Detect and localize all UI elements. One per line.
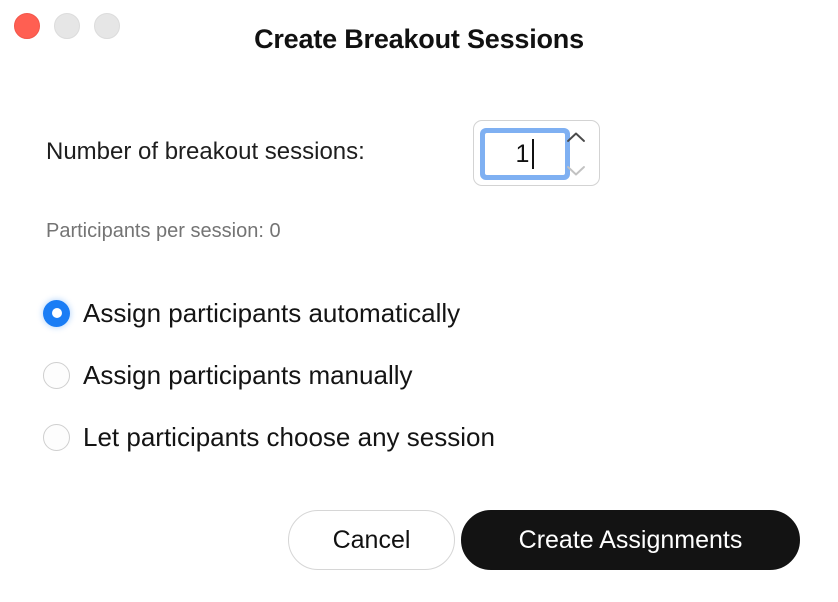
sessions-count-input-focus-ring: 1	[480, 128, 570, 180]
radio-selected-icon[interactable]	[43, 300, 70, 327]
page-title: Create Breakout Sessions	[0, 24, 838, 55]
create-assignments-button[interactable]: Create Assignments	[461, 510, 800, 570]
sessions-count-stepper[interactable]: 1	[473, 120, 600, 186]
radio-option-label: Assign participants automatically	[83, 298, 460, 329]
title-bar: Create Breakout Sessions	[0, 0, 838, 86]
sessions-count-value: 1	[516, 142, 531, 167]
assignment-method-radio-group: Assign participants automatically Assign…	[43, 282, 743, 468]
sessions-count-row: Number of breakout sessions: 1	[46, 120, 798, 186]
radio-option-assign-manually[interactable]: Assign participants manually	[43, 344, 743, 406]
dialog-footer: Cancel Create Assignments	[0, 510, 838, 580]
stepper-arrows	[562, 130, 590, 178]
sessions-count-label: Number of breakout sessions:	[46, 138, 365, 166]
sessions-count-input[interactable]: 1	[485, 133, 565, 175]
text-caret	[532, 139, 534, 169]
cancel-button[interactable]: Cancel	[288, 510, 455, 570]
chevron-up-icon[interactable]	[565, 130, 587, 144]
radio-option-label: Assign participants manually	[83, 360, 413, 391]
radio-unselected-icon[interactable]	[43, 424, 70, 451]
create-breakout-sessions-dialog: Create Breakout Sessions Number of break…	[0, 0, 838, 602]
radio-option-choose-any-session[interactable]: Let participants choose any session	[43, 406, 743, 468]
dialog-content: Number of breakout sessions: 1	[0, 86, 838, 602]
chevron-down-icon[interactable]	[565, 164, 587, 178]
participants-per-session-text: Participants per session: 0	[46, 220, 281, 243]
radio-unselected-icon[interactable]	[43, 362, 70, 389]
radio-option-assign-automatically[interactable]: Assign participants automatically	[43, 282, 743, 344]
radio-option-label: Let participants choose any session	[83, 422, 495, 453]
